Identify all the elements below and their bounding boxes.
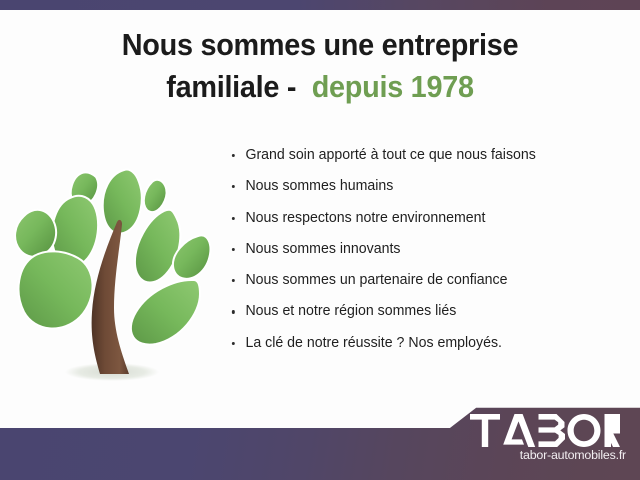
value-list: Grand soin apporté à tout ce que nous fa… bbox=[228, 147, 628, 366]
tree-trunk bbox=[92, 220, 129, 374]
brand-domain-text: tabor-automobiles.fr bbox=[470, 448, 628, 462]
slide-canvas: Nous sommes une entreprise familiale - d… bbox=[0, 0, 640, 480]
top-accent-bar bbox=[0, 0, 640, 10]
tree-leaf-9 bbox=[131, 280, 200, 345]
list-item: Nous sommes un partenaire de confiance bbox=[228, 272, 616, 289]
tree-leaf-8 bbox=[19, 251, 93, 328]
list-item: Grand soin apporté à tout ce que nous fa… bbox=[228, 147, 616, 164]
tree-leaf-3 bbox=[144, 180, 167, 212]
tree-leaf-5 bbox=[15, 210, 56, 257]
tree-illustration-svg bbox=[8, 140, 223, 390]
list-item: Nous sommes innovants bbox=[228, 241, 616, 258]
list-item: Nous respectons notre environnement bbox=[228, 210, 616, 227]
list-item: Nous sommes humains bbox=[228, 178, 616, 195]
list-item: Nous et notre région sommes liés bbox=[228, 303, 616, 320]
tree-illustration bbox=[8, 140, 223, 390]
tabor-logo-icon bbox=[470, 414, 620, 447]
page-title: Nous sommes une entreprise familiale - d… bbox=[22, 24, 617, 107]
headline-since-year: depuis 1978 bbox=[312, 69, 474, 104]
headline-familiale-text: familiale bbox=[166, 69, 279, 104]
tree-leaf-2 bbox=[103, 170, 142, 234]
headline-line-2: familiale - depuis 1978 bbox=[22, 66, 617, 108]
list-item: La clé de notre réussite ? Nos employés. bbox=[228, 335, 616, 352]
headline-line-1: Nous sommes une entreprise bbox=[22, 24, 617, 66]
brand-logo[interactable]: tabor-automobiles.fr bbox=[470, 414, 628, 462]
headline-space-2 bbox=[296, 69, 311, 104]
